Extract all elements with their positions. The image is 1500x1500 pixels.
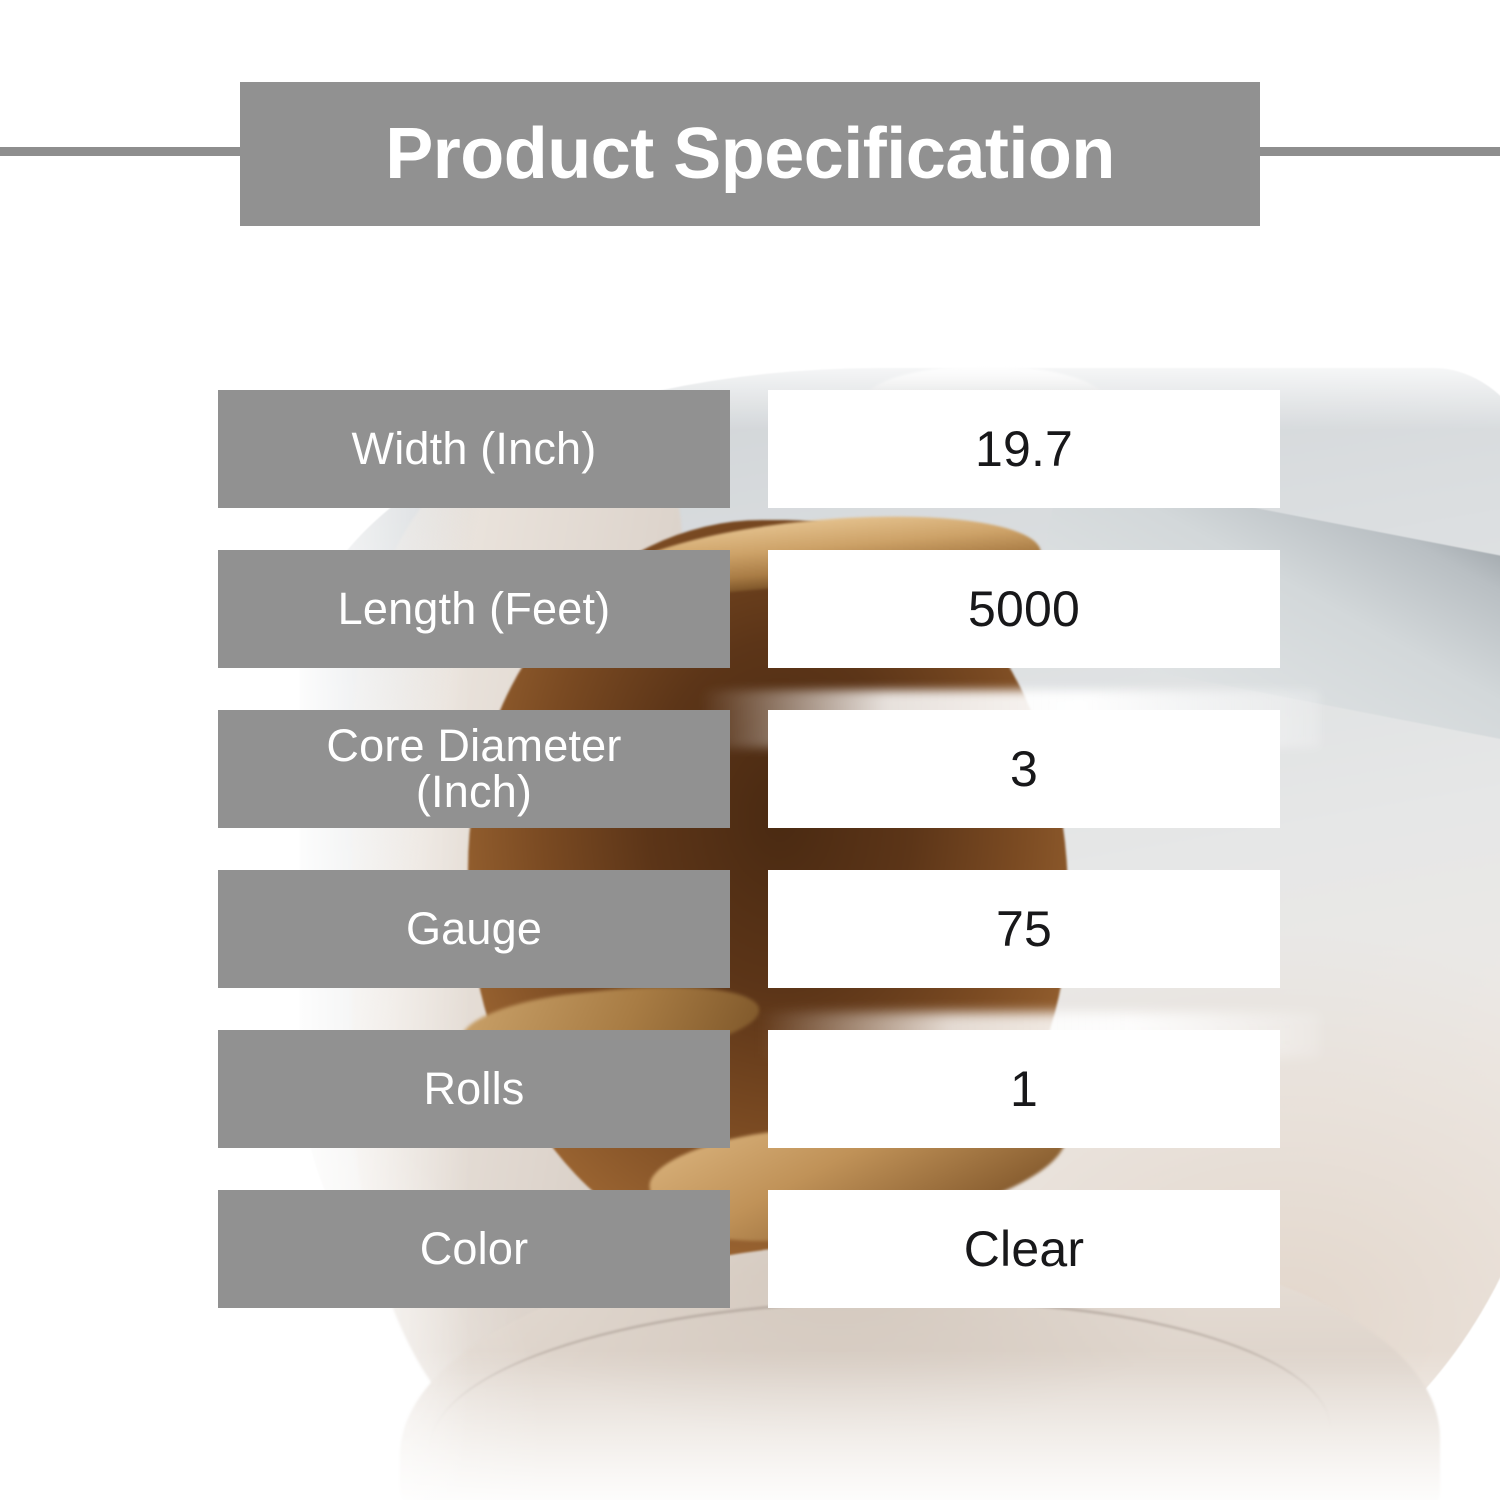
spec-value-text: 75 xyxy=(996,904,1052,955)
table-row: Rolls 1 xyxy=(0,1030,1500,1148)
table-row: Length (Feet) 5000 xyxy=(0,550,1500,668)
spec-label-cell: Rolls xyxy=(218,1030,730,1148)
spec-value-cell: 1 xyxy=(768,1030,1280,1148)
table-row: Core Diameter (Inch) 3 xyxy=(0,710,1500,828)
specification-table: Width (Inch) 19.7 Length (Feet) 5000 Cor… xyxy=(0,0,1500,1500)
spec-label-text: Gauge xyxy=(406,906,542,952)
spec-value-cell: 3 xyxy=(768,710,1280,828)
spec-value-text: 19.7 xyxy=(975,424,1073,475)
table-row: Color Clear xyxy=(0,1190,1500,1308)
spec-value-text: Clear xyxy=(964,1224,1084,1275)
product-specification-graphic: Product Specification Width (Inch) 19.7 … xyxy=(0,0,1500,1500)
spec-label-text: Core Diameter (Inch) xyxy=(326,723,621,815)
spec-label-cell: Core Diameter (Inch) xyxy=(218,710,730,828)
table-row: Width (Inch) 19.7 xyxy=(0,390,1500,508)
spec-label-text: Rolls xyxy=(423,1066,524,1112)
spec-label-text: Color xyxy=(420,1226,529,1272)
spec-value-text: 3 xyxy=(1010,744,1038,795)
spec-label-cell: Length (Feet) xyxy=(218,550,730,668)
spec-value-cell: 19.7 xyxy=(768,390,1280,508)
spec-label-text: Width (Inch) xyxy=(352,426,597,472)
spec-label-cell: Width (Inch) xyxy=(218,390,730,508)
spec-value-cell: 75 xyxy=(768,870,1280,988)
spec-value-text: 5000 xyxy=(968,584,1080,635)
spec-value-text: 1 xyxy=(1010,1064,1038,1115)
spec-label-text: Length (Feet) xyxy=(338,586,611,632)
spec-label-cell: Color xyxy=(218,1190,730,1308)
table-row: Gauge 75 xyxy=(0,870,1500,988)
spec-label-cell: Gauge xyxy=(218,870,730,988)
spec-value-cell: Clear xyxy=(768,1190,1280,1308)
spec-value-cell: 5000 xyxy=(768,550,1280,668)
